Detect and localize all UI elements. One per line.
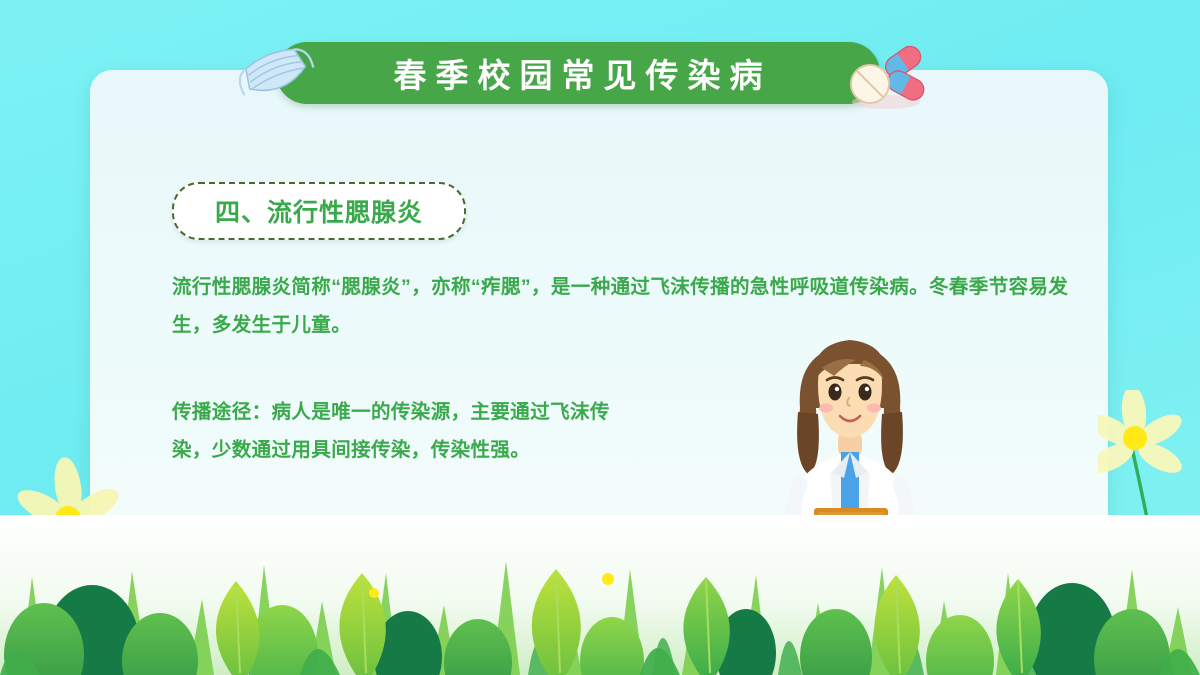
section-heading-text: 四、流行性腮腺炎: [215, 193, 423, 229]
green-leaves-band: [0, 515, 1200, 675]
page-title: 春季校园常见传染病: [276, 42, 880, 104]
section-heading-pill: 四、流行性腮腺炎: [172, 182, 466, 240]
paragraph-transmission: 传播途径：病人是唯一的传染源，主要通过飞沫传染，少数通过用具间接传染，传染性强。: [172, 393, 642, 469]
title-banner: 春季校园常见传染病: [228, 36, 928, 110]
slide-canvas: 春季校园常见传染病 四、流行性腮腺炎 流行性腮腺炎简称“腮腺炎”，亦称“痄腮”，…: [0, 0, 1200, 675]
